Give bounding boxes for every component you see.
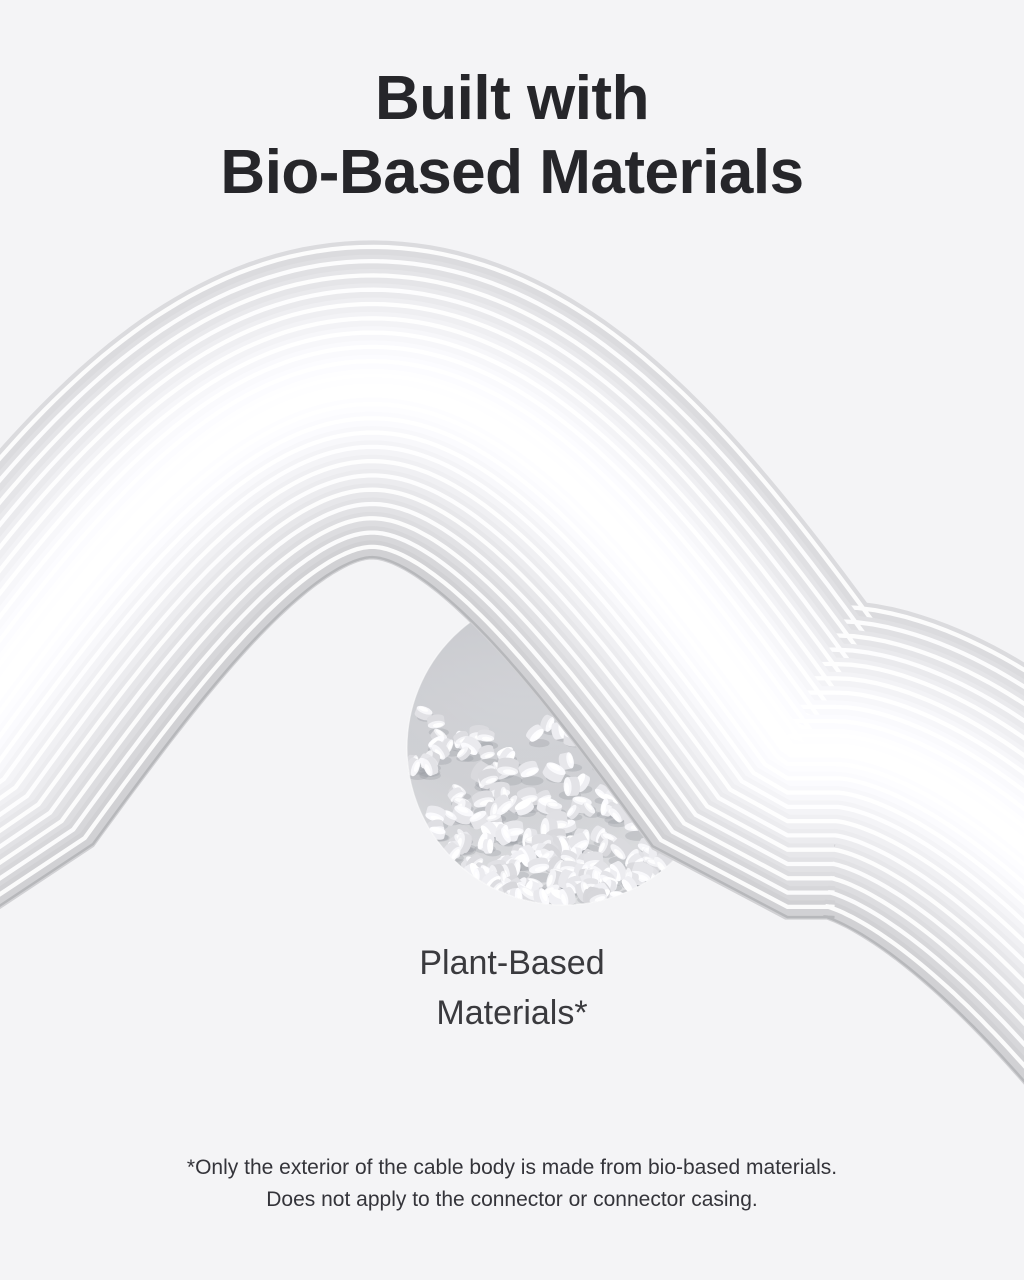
inset-caption-line-1: Plant-Based [0, 938, 1024, 988]
inset-caption: Plant-Based Materials* [0, 938, 1024, 1038]
product-feature-page: Built with Bio-Based Materials [0, 0, 1024, 1280]
pellet-shadow [590, 903, 611, 912]
pellet-shadow [611, 898, 629, 905]
page-title-line-1: Built with [0, 62, 1024, 136]
footnote-line-2: Does not apply to the connector or conne… [0, 1184, 1024, 1216]
page-title-line-2: Bio-Based Materials [0, 136, 1024, 210]
plastic-pellet [563, 777, 580, 797]
page-title: Built with Bio-Based Materials [0, 62, 1024, 210]
footnote-disclaimer: *Only the exterior of the cable body is … [0, 1152, 1024, 1216]
footnote-line-1: *Only the exterior of the cable body is … [0, 1152, 1024, 1184]
plastic-pellet [483, 839, 494, 854]
pellet-shadow [521, 776, 544, 785]
inset-caption-line-2: Materials* [0, 988, 1024, 1038]
